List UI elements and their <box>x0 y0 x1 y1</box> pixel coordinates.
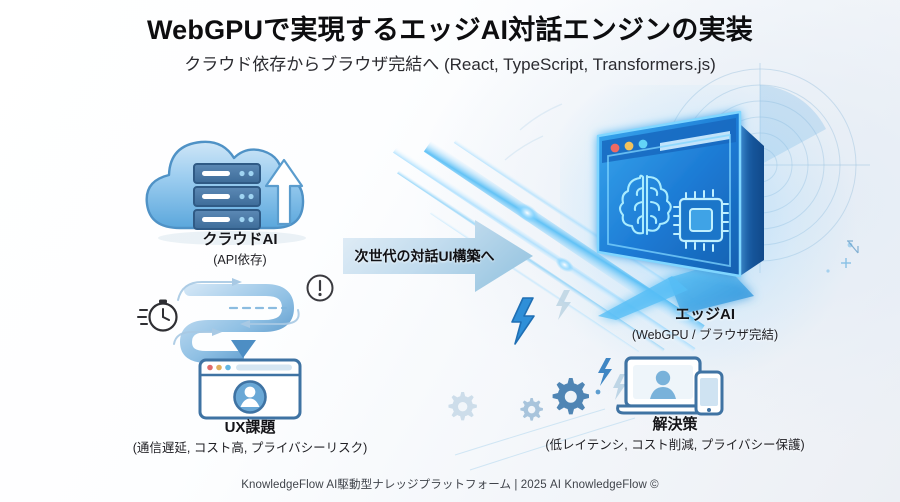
footer-text: KnowledgeFlow AI駆動型ナレッジプラットフォーム | 2025 A… <box>0 476 900 492</box>
cloud-icon <box>132 128 332 246</box>
label-cloud: クラウドAI (API依存) <box>130 230 350 268</box>
label-solution: 解決策 (低レイテンシ, コスト削減, プライバシー保護) <box>500 415 850 453</box>
traffic-light-dots <box>611 140 648 153</box>
cpu-chip-icon <box>674 190 728 251</box>
url-bar <box>660 131 730 151</box>
upload-arrow-icon <box>266 160 302 224</box>
label-ux-sub: (通信遅延, コスト高, プライバシーリスク) <box>70 440 430 457</box>
stopwatch-icon <box>138 300 177 331</box>
label-edge: エッジAI (WebGPU / ブラウザ完結) <box>540 305 870 343</box>
label-cloud-sub: (API依存) <box>130 252 350 269</box>
brain-icon <box>620 176 671 234</box>
warning-icon <box>308 276 333 301</box>
gear-icon <box>553 378 589 414</box>
isometric-browser-icon <box>572 100 792 320</box>
label-solution-sub: (低レイテンシ, コスト削減, プライバシー保護) <box>500 437 850 454</box>
lightning-bolt-icon <box>512 298 534 344</box>
label-ux: UX課題 (通信遅延, コスト高, プライバシーリスク) <box>70 418 430 456</box>
page-subtitle: クラウド依存からブラウザ完結へ (React, TypeScript, Tran… <box>0 54 900 75</box>
header: WebGPUで実現するエッジAI対話エンジンの実装 クラウド依存からブラウザ完結… <box>0 14 900 76</box>
label-ux-title: UX課題 <box>70 418 430 438</box>
label-edge-title: エッジAI <box>540 305 870 325</box>
winding-arrow-icon <box>138 272 348 368</box>
gear-icon <box>448 392 498 442</box>
page-title: WebGPUで実現するエッジAI対話エンジンの実装 <box>0 14 900 46</box>
label-solution-title: 解決策 <box>500 415 850 435</box>
smartphone-icon <box>696 372 722 414</box>
transition-arrow-label: 次世代の対話UI構築へ <box>343 218 506 294</box>
server-rack-icon <box>194 164 260 229</box>
laptop-icon <box>596 354 746 418</box>
transition-arrow: 次世代の対話UI構築へ <box>343 218 533 294</box>
browser-window-icon <box>198 358 302 420</box>
lightning-bolt-icon <box>613 374 626 400</box>
gears-and-bolts-decoration <box>492 282 672 422</box>
user-avatar-icon <box>235 382 266 413</box>
slide-canvas: WebGPUで実現するエッジAI対話エンジンの実装 クラウド依存からブラウザ完結… <box>0 0 900 502</box>
user-avatar-icon <box>650 371 676 399</box>
radar-circles-decoration <box>700 95 900 305</box>
lightning-bolt-icon <box>596 358 612 394</box>
label-cloud-title: クラウドAI <box>130 230 350 250</box>
label-edge-sub: (WebGPU / ブラウザ完結) <box>540 327 870 344</box>
